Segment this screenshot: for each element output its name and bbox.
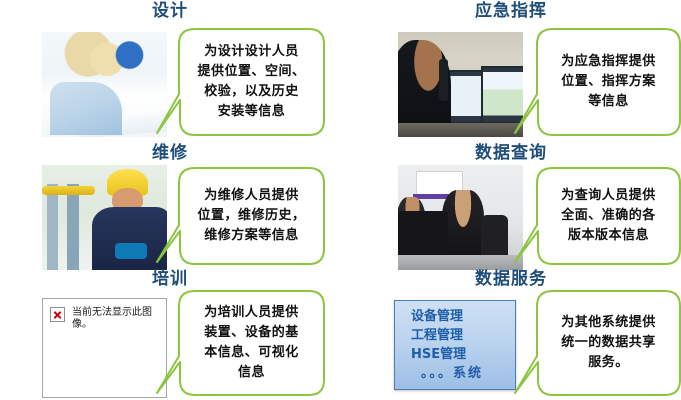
broken-image-inner: 当前无法显示此图像。 <box>43 299 166 331</box>
photo-maintenance-layer <box>42 165 167 270</box>
broken-image-placeholder-training: 当前无法显示此图像。 <box>42 298 167 398</box>
photo-operator-with-radio-at-monitors <box>398 32 523 137</box>
panel-title-data-service: 数据服务 <box>341 268 681 290</box>
office-chair-shape <box>481 215 509 259</box>
callout-text-data-service: 为其他系统提供 统一的数据共享 服务。 <box>537 291 680 395</box>
broken-image-icon <box>50 307 65 322</box>
callout-maintenance: 为维修人员提供 位置，维修历史， 维修方案等信息 <box>155 167 325 267</box>
staff-front-figure-shape <box>442 190 485 264</box>
panel-title-training: 培训 <box>0 268 340 290</box>
callout-query: 为查询人员提供 全面、准确的各 版本版本信息 <box>513 167 681 267</box>
panel-title-maintenance: 维修 <box>0 142 340 164</box>
desktop-monitor-shape <box>398 211 448 259</box>
power-tool-shape <box>115 243 148 260</box>
desk-shape <box>398 123 523 137</box>
callout-design: 为设计设计人员 提供位置、空间、 校验，以及历史 安装等信息 <box>155 28 325 138</box>
panel-data-service: 数据服务 设备管理 工程管理 HSE管理 。。。系统 为其他系统提供 统一的数据… <box>341 268 681 400</box>
panel-query: 数据查询 为查询人员提供 全面、准确的各 版本版本信息 <box>341 142 681 272</box>
system-item-more: 。。。系统 <box>411 364 515 383</box>
broken-image-message: 当前无法显示此图像。 <box>72 307 160 331</box>
panel-maintenance: 维修 为维修人员提供 位置，维修历史， 维修方案等信息 <box>0 142 340 272</box>
system-item-engineering: 工程管理 <box>411 326 515 345</box>
panel-title-emergency: 应急指挥 <box>341 0 681 22</box>
panel-title-query: 数据查询 <box>341 142 681 164</box>
ladder-shape <box>47 184 90 270</box>
handheld-radio-shape <box>439 59 448 101</box>
capability-diagram: 设计 为设计设计人员 提供位置、空间、 校验，以及历史 安装等信息 应急指挥 <box>0 0 681 400</box>
system-item-equipment: 设备管理 <box>411 307 515 326</box>
callout-text-emergency: 为应急指挥提供 位置、指挥方案 等信息 <box>537 29 680 135</box>
system-item-hse: HSE管理 <box>411 345 515 364</box>
callout-text-training: 为培训人员提供 装置、设备的基 本信息、可视化 信息 <box>179 291 324 395</box>
callout-training: 为培训人员提供 装置、设备的基 本信息、可视化 信息 <box>155 290 325 398</box>
panel-title-design: 设计 <box>0 0 340 22</box>
callout-data-service: 为其他系统提供 统一的数据共享 服务。 <box>513 290 681 398</box>
panel-training: 培训 当前无法显示此图像。 为培训人员提供 装置、设备的基 本信息、可视化 信息 <box>0 268 340 400</box>
panel-emergency: 应急指挥 为应急指挥提供 位置、指挥方案 等信息 <box>341 0 681 145</box>
system-list-box: 设备管理 工程管理 HSE管理 。。。系统 <box>394 300 516 390</box>
photo-emergency-layer <box>398 32 523 137</box>
photo-technician-with-ladder <box>42 165 167 270</box>
photo-designer-reviewing-blueprint <box>42 32 167 137</box>
panel-design: 设计 为设计设计人员 提供位置、空间、 校验，以及历史 安装等信息 <box>0 0 340 145</box>
callout-text-maintenance: 为维修人员提供 位置，维修历史， 维修方案等信息 <box>179 168 324 264</box>
photo-query-layer <box>398 165 523 270</box>
callout-emergency: 为应急指挥提供 位置、指挥方案 等信息 <box>513 28 681 138</box>
ladder-top-shape <box>42 186 95 195</box>
photo-office-staff-at-computer <box>398 165 523 270</box>
callout-text-design: 为设计设计人员 提供位置、空间、 校验，以及历史 安装等信息 <box>179 29 324 135</box>
callout-text-query: 为查询人员提供 全面、准确的各 版本版本信息 <box>537 168 680 264</box>
monitor-left-shape <box>446 70 484 124</box>
